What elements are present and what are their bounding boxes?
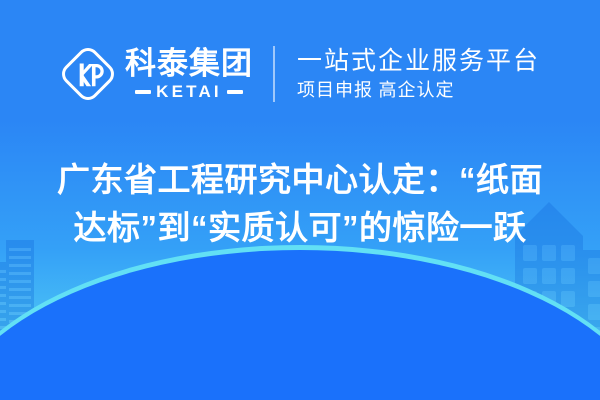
brand-logo[interactable]: 科泰集团 KETAI [60, 46, 273, 102]
title-line-1: 广东省工程研究中心认定：“纸面 [52, 156, 548, 204]
company-name-en: KETAI [156, 83, 222, 100]
tagline-block: 一站式企业服务平台 项目申报 高企认定 [275, 47, 540, 101]
company-name-cn: 科泰集团 [125, 48, 253, 80]
title-line-2: 达标”到“实质认可”的惊险一跃 [52, 204, 548, 252]
tagline-primary: 一站式企业服务平台 [297, 47, 540, 77]
brand-wordmark: 科泰集团 KETAI [125, 48, 253, 101]
curved-ground-band [0, 250, 600, 400]
banner-title: 广东省工程研究中心认定：“纸面 达标”到“实质认可”的惊险一跃 [0, 156, 600, 252]
banner-header: 科泰集团 KETAI 一站式企业服务平台 项目申报 高企认定 [0, 34, 600, 114]
ketai-kp-diamond-logo-icon [60, 46, 116, 102]
tagline-secondary: 项目申报 高企认定 [297, 80, 540, 101]
company-name-en-row: KETAI [125, 83, 253, 100]
promo-banner: 科泰集团 KETAI 一站式企业服务平台 项目申报 高企认定 广东省工程研究中心… [0, 0, 600, 400]
dash-left-icon [135, 90, 151, 94]
dash-right-icon [227, 90, 243, 94]
